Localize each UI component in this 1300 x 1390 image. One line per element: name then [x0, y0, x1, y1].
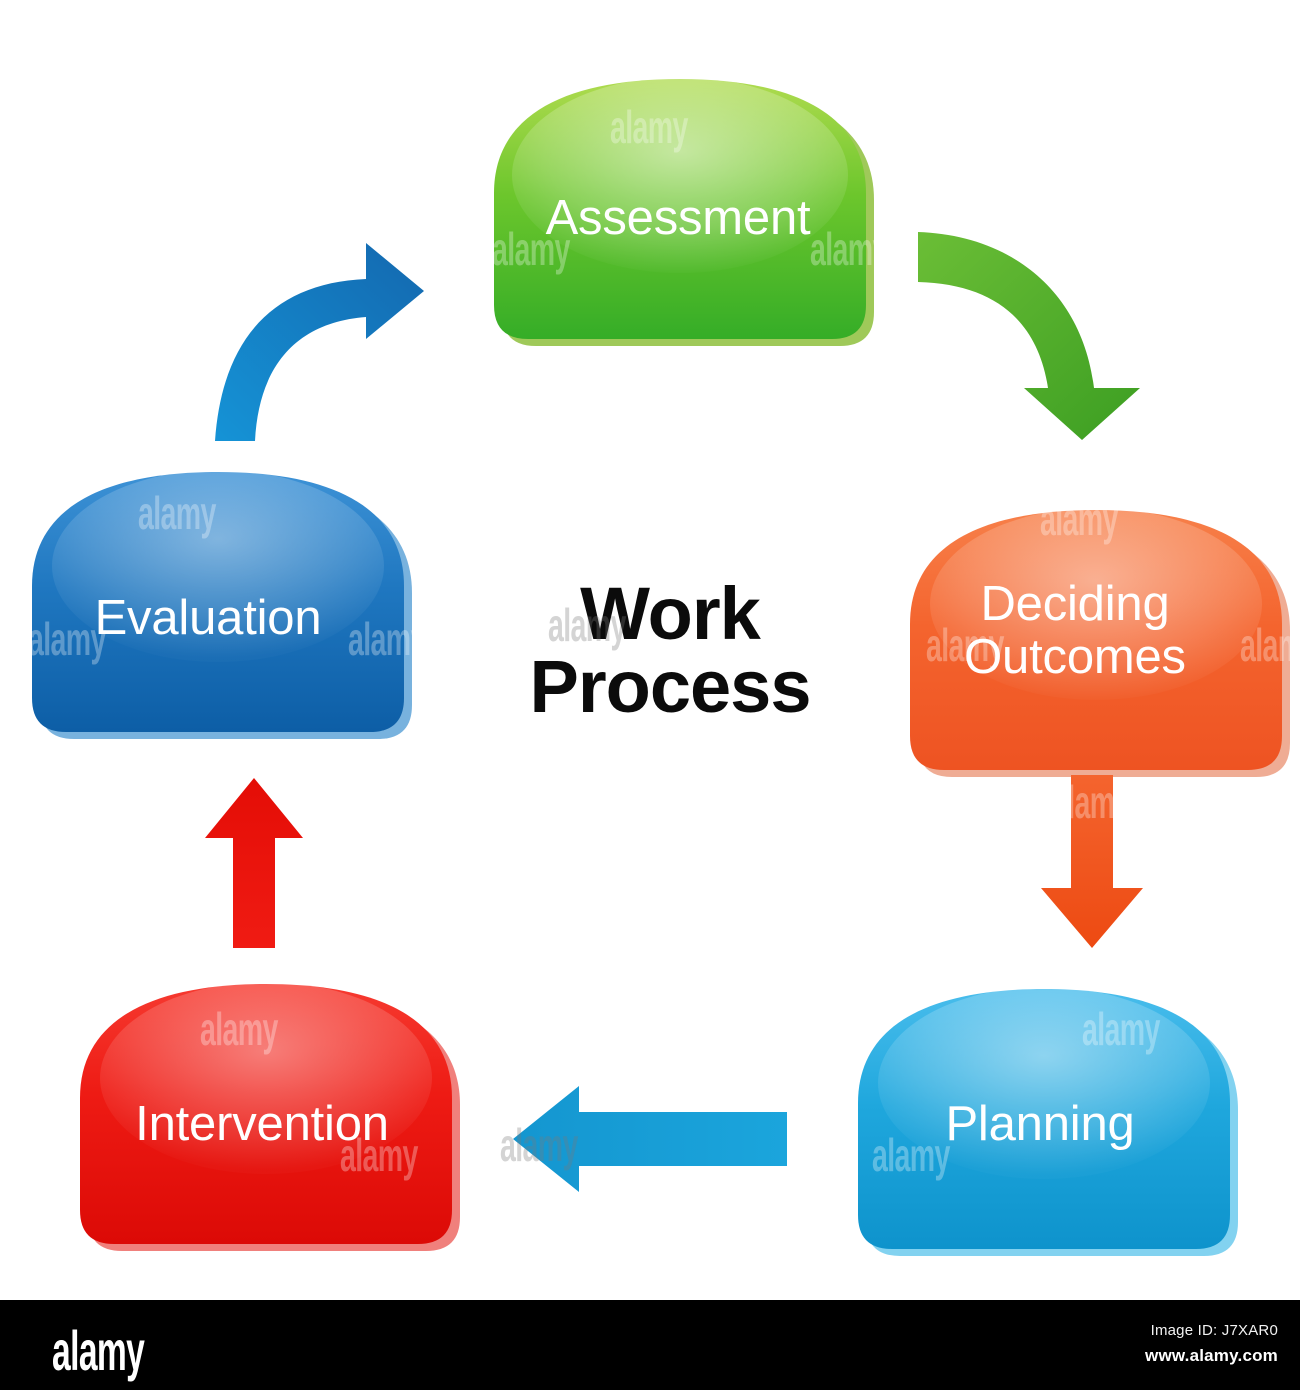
arrow-planning-to-intervention	[513, 1086, 787, 1192]
alamy-footer-bar: alamy Image ID: J7XAR0 www.alamy.com	[0, 1300, 1300, 1390]
arrow-deciding-to-planning	[1041, 775, 1143, 948]
node-evaluation[interactable]	[32, 470, 412, 739]
arrow-assessment-to-deciding	[918, 232, 1140, 440]
node-intervention-gloss	[100, 982, 432, 1174]
arrow-intervention-to-evaluation	[205, 778, 303, 948]
node-assessment[interactable]	[494, 77, 874, 346]
alamy-logo: alamy	[52, 1318, 144, 1383]
node-evaluation-gloss	[52, 470, 384, 662]
image-id-text: Image ID: J7XAR0	[1145, 1322, 1278, 1339]
node-planning-gloss	[878, 987, 1210, 1179]
footer-meta: Image ID: J7XAR0 www.alamy.com	[1145, 1322, 1278, 1366]
screenshot-root: Assessment Deciding Outcomes Planning In…	[0, 0, 1300, 1390]
node-deciding-gloss	[930, 508, 1262, 700]
alamy-url-text[interactable]: www.alamy.com	[1145, 1346, 1278, 1366]
node-planning[interactable]	[858, 987, 1238, 1256]
node-deciding-outcomes[interactable]	[910, 508, 1290, 777]
diagram-title: Work Process	[440, 578, 900, 723]
arrow-evaluation-to-assessment	[215, 243, 424, 441]
node-intervention[interactable]	[80, 982, 460, 1251]
node-assessment-gloss	[512, 77, 848, 273]
